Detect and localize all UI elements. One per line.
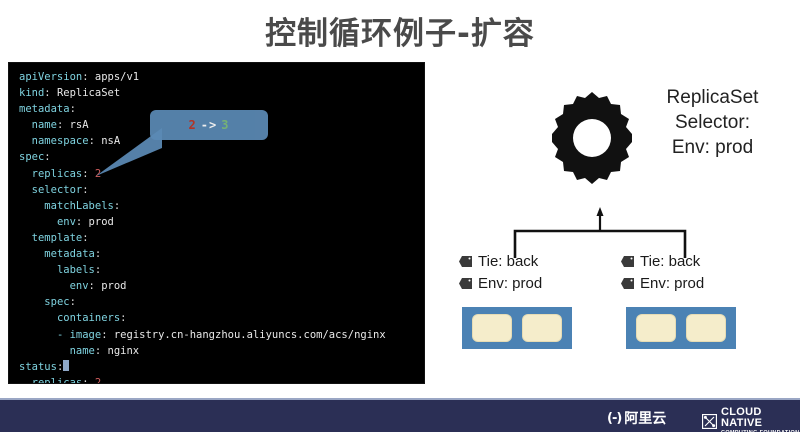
code-key: labels xyxy=(57,264,95,276)
code-line: template: xyxy=(19,230,422,246)
code-line: matchLabels: xyxy=(19,198,422,214)
tag-label: Env: prod xyxy=(640,275,704,292)
code-line: replicas: 2 xyxy=(19,166,422,182)
code-line: env: prod xyxy=(19,214,422,230)
callout-to-value: 3 xyxy=(221,118,229,132)
code-key: spec xyxy=(19,151,44,163)
rs-label-line-3: Env: prod xyxy=(630,135,795,160)
footer-bar xyxy=(0,400,800,432)
code-value: nginx xyxy=(101,345,139,357)
pod xyxy=(523,315,561,341)
code-key: env xyxy=(70,280,89,292)
pod-box-right xyxy=(626,307,736,349)
code-key: spec xyxy=(44,296,69,308)
tag-icon xyxy=(458,277,473,290)
code-key: env xyxy=(57,216,76,228)
cncf-mark-icon xyxy=(702,414,717,429)
code-key: name xyxy=(32,119,57,131)
code-key: containers xyxy=(57,312,120,324)
code-line: spec: xyxy=(19,294,422,310)
code-colon: : xyxy=(82,232,88,244)
rs-label-line-2: Selector: xyxy=(630,110,795,135)
code-line: containers: xyxy=(19,310,422,326)
replicaset-selector-label: ReplicaSet Selector: Env: prod xyxy=(630,85,795,160)
code-colon: : xyxy=(44,151,50,163)
code-key: status xyxy=(19,361,57,373)
code-key: replicas xyxy=(32,377,83,384)
tag-row: Env: prod xyxy=(458,272,542,294)
code-key: - image xyxy=(57,329,101,341)
tag-label: Tie: back xyxy=(640,253,700,270)
tag-row: Tie: back xyxy=(620,250,704,272)
code-key: matchLabels xyxy=(44,200,114,212)
pod xyxy=(687,315,725,341)
alibaba-cloud-logo: (-) 阿里云 xyxy=(607,408,666,428)
alibaba-mark-icon: (-) xyxy=(607,411,621,426)
replicas-change-callout: 2 -> 3 xyxy=(150,110,268,140)
page-title: 控制循环例子-扩容 xyxy=(0,8,800,53)
gear-icon xyxy=(542,88,642,188)
callout-text: 2 -> 3 xyxy=(150,110,268,140)
pod xyxy=(637,315,675,341)
code-key: selector xyxy=(32,184,83,196)
code-line: metadata: xyxy=(19,246,422,262)
code-key: metadata xyxy=(44,248,95,260)
code-colon: : xyxy=(95,264,101,276)
pod-group-right-tags: Tie: back Env: prod xyxy=(620,250,704,294)
code-line: selector: xyxy=(19,182,422,198)
code-line: labels: xyxy=(19,262,422,278)
code-value: prod xyxy=(82,216,114,228)
callout-arrow: -> xyxy=(201,118,217,132)
code-key: metadata xyxy=(19,103,70,115)
code-line: kind: ReplicaSet xyxy=(19,85,422,101)
pod xyxy=(473,315,511,341)
code-colon: : xyxy=(82,184,88,196)
code-value: registry.cn-hangzhou.aliyuncs.com/acs/ng… xyxy=(108,329,386,341)
code-line: name: nginx xyxy=(19,343,422,359)
tag-row: Tie: back xyxy=(458,250,542,272)
tag-icon xyxy=(620,277,635,290)
pod-group-left-tags: Tie: back Env: prod xyxy=(458,250,542,294)
tag-icon xyxy=(620,255,635,268)
code-line: status: xyxy=(19,359,422,375)
tag-icon xyxy=(458,255,473,268)
code-value: prod xyxy=(95,280,127,292)
cncf-line-1: CLOUD NATIVE xyxy=(721,407,800,429)
code-key: kind xyxy=(19,87,44,99)
rs-label-line-1: ReplicaSet xyxy=(630,85,795,110)
code-key: name xyxy=(70,345,95,357)
slide-canvas: 控制循环例子-扩容 apiVersion: apps/v1kind: Repli… xyxy=(0,0,800,432)
callout-from-value: 2 xyxy=(189,118,197,132)
tag-row: Env: prod xyxy=(620,272,704,294)
code-key: replicas xyxy=(32,168,83,180)
code-line: env: prod xyxy=(19,278,422,294)
code-colon: : xyxy=(120,312,126,324)
code-key: apiVersion xyxy=(19,71,82,83)
code-colon: : xyxy=(70,296,76,308)
code-colon: : xyxy=(114,200,120,212)
code-colon: : xyxy=(95,248,101,260)
alibaba-logo-text: 阿里云 xyxy=(624,408,666,428)
tag-label: Env: prod xyxy=(478,275,542,292)
code-value: ReplicaSet xyxy=(51,87,121,99)
code-value: 2 xyxy=(89,377,102,384)
code-key: namespace xyxy=(32,135,89,147)
code-line: replicas: 2 xyxy=(19,375,422,384)
code-colon: : xyxy=(70,103,76,115)
code-value: rsA xyxy=(63,119,88,131)
code-line: - image: registry.cn-hangzhou.aliyuncs.c… xyxy=(19,327,422,343)
pod-box-left xyxy=(462,307,572,349)
text-cursor xyxy=(63,360,69,371)
code-value: apps/v1 xyxy=(89,71,140,83)
code-line: apiVersion: apps/v1 xyxy=(19,69,422,85)
tag-label: Tie: back xyxy=(478,253,538,270)
cncf-line-2: COMPUTING FOUNDATION xyxy=(721,431,800,436)
code-key: template xyxy=(32,232,83,244)
code-line: spec: xyxy=(19,149,422,165)
